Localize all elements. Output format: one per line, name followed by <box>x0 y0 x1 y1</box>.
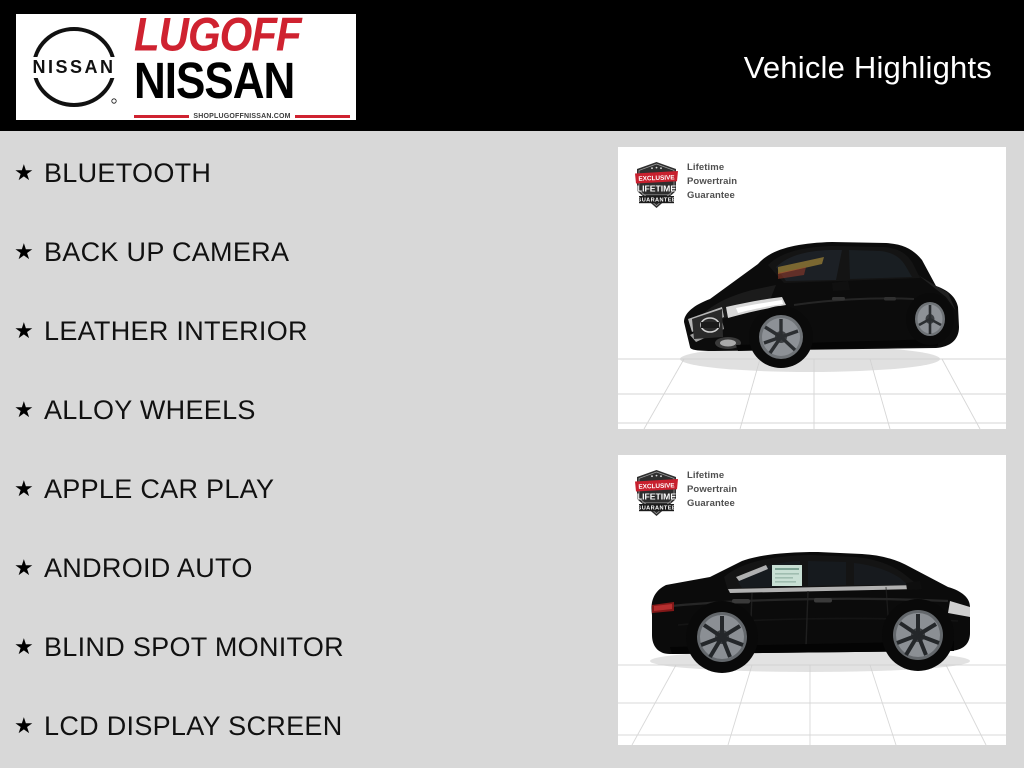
feature-list-item: ★ALLOY WHEELS <box>14 393 256 427</box>
logo-nissan-text: NISSAN <box>134 57 350 108</box>
feature-label: LEATHER INTERIOR <box>44 316 308 347</box>
lifetime-guarantee-badge: EXCLUSIVE LIFETIME GUARANTEE Lifetime Po… <box>634 161 737 209</box>
guarantee-caption-line-3: Guarantee <box>687 497 737 511</box>
feature-list-item: ★BLUETOOTH <box>14 156 211 190</box>
star-bullet-icon: ★ <box>14 636 44 658</box>
star-bullet-icon: ★ <box>14 320 44 342</box>
vehicle-photo-card[interactable]: EXCLUSIVE LIFETIME GUARANTEE Lifetime Po… <box>618 147 1006 429</box>
feature-list-item: ★LEATHER INTERIOR <box>14 314 308 348</box>
feature-label: BLUETOOTH <box>44 158 211 189</box>
header-bar: NISSAN LUGOFF NISSAN SHOPLUGOFFNISSAN.CO… <box>0 0 1024 131</box>
dealer-wordmark: LUGOFF NISSAN SHOPLUGOFFNISSAN.COM <box>134 14 350 120</box>
guarantee-caption-line-1: Lifetime <box>687 469 737 483</box>
guarantee-caption-line-2: Powertrain <box>687 483 737 497</box>
feature-list-item: ★LCD DISPLAY SCREEN <box>14 709 343 743</box>
feature-label: BACK UP CAMERA <box>44 237 289 268</box>
dealer-logo[interactable]: NISSAN LUGOFF NISSAN SHOPLUGOFFNISSAN.CO… <box>16 14 356 120</box>
lifetime-guarantee-badge: EXCLUSIVE LIFETIME GUARANTEE Lifetime Po… <box>634 469 737 517</box>
feature-label: ANDROID AUTO <box>44 553 253 584</box>
feature-label: BLIND SPOT MONITOR <box>44 632 344 663</box>
svg-text:GUARANTEE: GUARANTEE <box>637 506 676 512</box>
logo-rule-right <box>295 115 350 118</box>
feature-label: APPLE CAR PLAY <box>44 474 274 505</box>
star-bullet-icon: ★ <box>14 557 44 579</box>
feature-list-item: ★BLIND SPOT MONITOR <box>14 630 344 664</box>
feature-list-item: ★BACK UP CAMERA <box>14 235 289 269</box>
rear-wheel <box>686 601 758 673</box>
star-bullet-icon: ★ <box>14 715 44 737</box>
logo-website-row: SHOPLUGOFFNISSAN.COM <box>134 113 350 120</box>
guarantee-caption-line-3: Guarantee <box>687 189 737 203</box>
page-title: Vehicle Highlights <box>744 50 992 86</box>
feature-list-item: ★ANDROID AUTO <box>14 551 253 585</box>
guarantee-caption-line-2: Powertrain <box>687 175 737 189</box>
star-bullet-icon: ★ <box>14 241 44 263</box>
star-bullet-icon: ★ <box>14 399 44 421</box>
guarantee-shield-icon: EXCLUSIVE LIFETIME GUARANTEE <box>634 161 679 209</box>
nissan-emblem-text: NISSAN <box>32 57 115 77</box>
vehicle-photo-card[interactable]: EXCLUSIVE LIFETIME GUARANTEE Lifetime Po… <box>618 455 1006 745</box>
guarantee-shield-icon: EXCLUSIVE LIFETIME GUARANTEE <box>634 469 679 517</box>
star-bullet-icon: ★ <box>14 162 44 184</box>
guarantee-caption: Lifetime Powertrain Guarantee <box>687 469 737 510</box>
logo-rule-left <box>134 115 189 118</box>
svg-text:GUARANTEE: GUARANTEE <box>637 198 676 204</box>
svg-text:EXCLUSIVE: EXCLUSIVE <box>638 482 675 490</box>
logo-website-text: SHOPLUGOFFNISSAN.COM <box>189 113 294 120</box>
svg-text:EXCLUSIVE: EXCLUSIVE <box>638 174 675 182</box>
svg-text:LIFETIME: LIFETIME <box>637 184 676 194</box>
front-wheel <box>882 599 954 671</box>
vehicle-highlights-slide: NISSAN LUGOFF NISSAN SHOPLUGOFFNISSAN.CO… <box>0 0 1024 768</box>
svg-text:LIFETIME: LIFETIME <box>637 492 676 502</box>
feature-list-item: ★APPLE CAR PLAY <box>14 472 274 506</box>
logo-lugoff-text: LUGOFF <box>134 11 350 58</box>
nissan-emblem-icon: NISSAN <box>22 19 126 115</box>
guarantee-caption-line-1: Lifetime <box>687 161 737 175</box>
rear-wheel <box>906 293 954 345</box>
feature-label: ALLOY WHEELS <box>44 395 256 426</box>
vehicle-highlights-list: ★BLUETOOTH★BACK UP CAMERA★LEATHER INTERI… <box>0 131 600 768</box>
front-wheel <box>749 306 813 368</box>
feature-label: LCD DISPLAY SCREEN <box>44 711 343 742</box>
star-bullet-icon: ★ <box>14 478 44 500</box>
guarantee-caption: Lifetime Powertrain Guarantee <box>687 161 737 202</box>
